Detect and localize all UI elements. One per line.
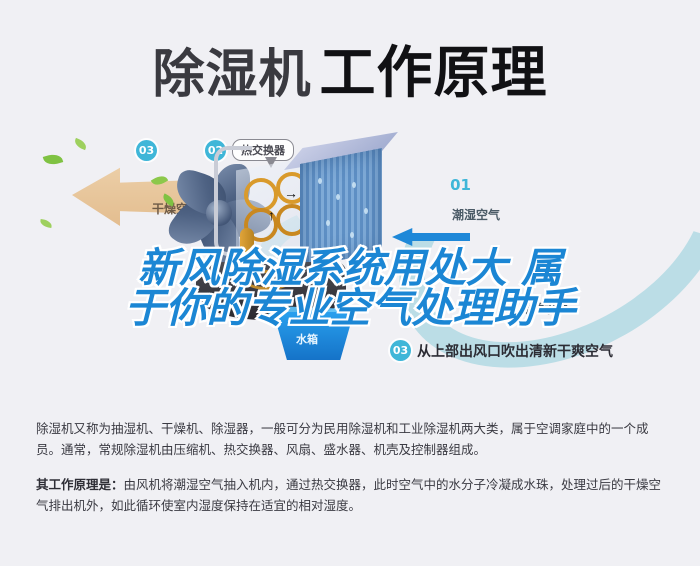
leaf-icon: [43, 151, 64, 167]
water-tank-label: 水箱: [296, 331, 318, 347]
description-paragraph-2-lead: 其工作原理是：: [36, 477, 124, 492]
page-title: 除湿机工作原理: [0, 28, 700, 109]
base-ring-icon: [244, 270, 292, 290]
dehumidifier-diagram: 干燥空气 03 02 01 热交换器 ↑ ↓ →: [0, 112, 700, 402]
infographic-page: 除湿机工作原理 干燥空气 03 02 01 热交换器: [0, 0, 700, 566]
humid-air-label: 潮湿空气: [452, 206, 500, 223]
leaf-icon: [39, 219, 52, 228]
step-badge-03-bottom: 03: [390, 340, 411, 361]
step-badge-03: 03: [136, 140, 157, 161]
description-block: 除湿机又称为抽湿机、干燥机、除湿器，一般可分为民用除湿机和工业除湿机两大类，属于…: [36, 418, 666, 530]
outlet-step-text: 从上部出风口吹出清新干爽空气: [417, 341, 613, 361]
compressor-cylinder-icon: [240, 228, 254, 254]
heat-exchanger-fins: [300, 148, 382, 268]
flow-arrow-up-icon: ↑: [268, 208, 275, 222]
outlet-step-line: 03 从上部出风口吹出清新干爽空气: [390, 340, 613, 361]
description-paragraph-1: 除湿机又称为抽湿机、干燥机、除湿器，一般可分为民用除湿机和工业除湿机两大类，属于…: [36, 418, 666, 460]
description-paragraph-2: 其工作原理是：由风机将潮湿空气抽入机内，通过热交换器，此时空气中的水分子冷凝成水…: [36, 474, 666, 516]
flow-arrow-right-icon: →: [284, 186, 298, 200]
title-part-secondary: 工作原理: [320, 41, 548, 106]
description-paragraph-2-rest: 由风机将潮湿空气抽入机内，通过热交换器，此时空气中的水分子冷凝成水珠，处理过后的…: [36, 477, 661, 513]
condensate-label: 凝成水珠: [520, 300, 568, 317]
step-badge-01: 01: [450, 174, 471, 195]
leaf-icon: [73, 138, 88, 150]
title-part-primary: 除湿机: [152, 45, 311, 105]
